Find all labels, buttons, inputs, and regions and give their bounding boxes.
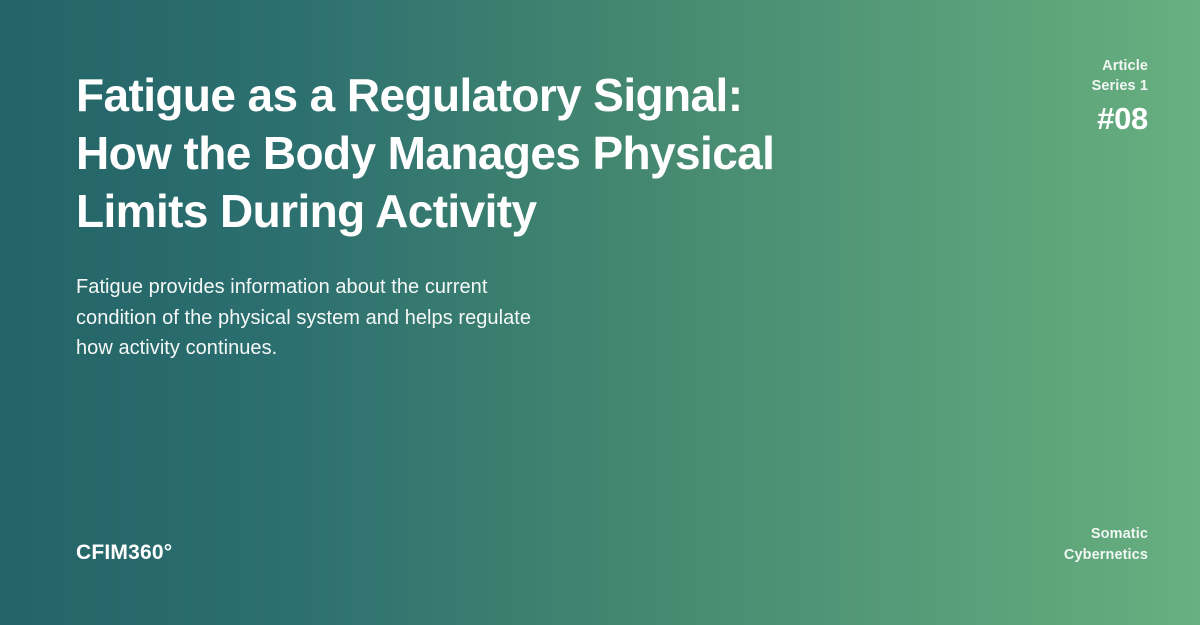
brand-logo: CFIM360°	[76, 541, 172, 565]
article-title-card: Article Series 1 #08 Fatigue as a Regula…	[0, 0, 1200, 625]
article-series-badge: Article Series 1 #08	[1092, 56, 1148, 136]
main-content: Fatigue as a Regulatory Signal: How the …	[76, 66, 776, 364]
page-subtitle: Fatigue provides information about the c…	[76, 240, 776, 364]
brand-tagline: Somatic Cybernetics	[1064, 524, 1148, 565]
page-title: Fatigue as a Regulatory Signal: How the …	[76, 66, 776, 240]
series-label: Article Series 1	[1092, 56, 1148, 96]
series-number: #08	[1092, 102, 1148, 136]
